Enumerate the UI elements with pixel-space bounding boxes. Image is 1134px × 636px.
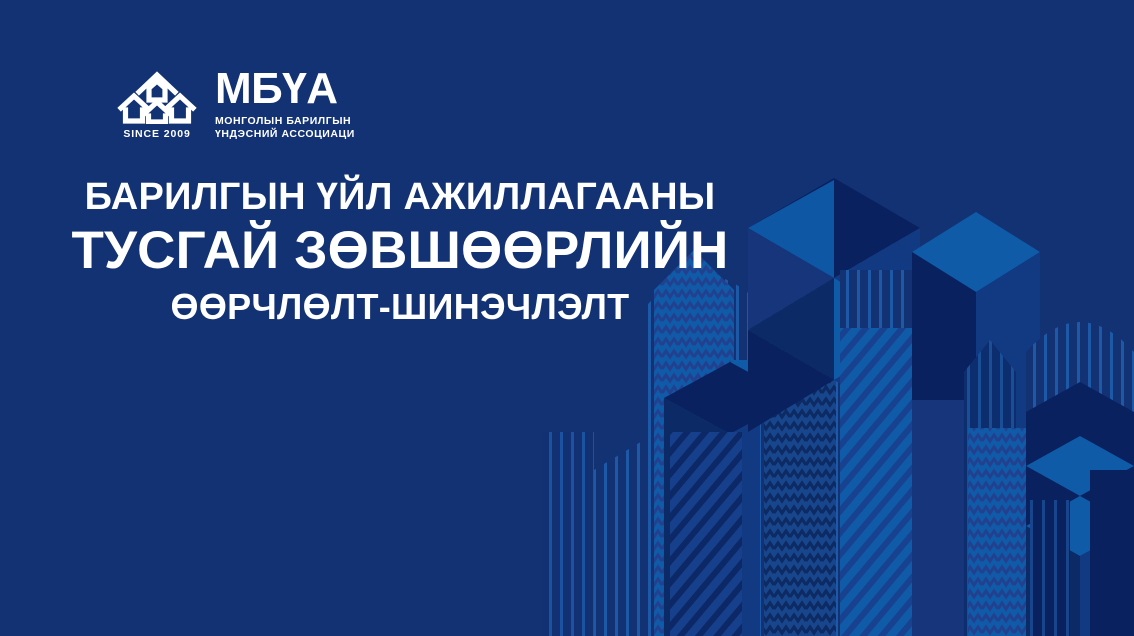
skyline-arch-left	[646, 275, 762, 636]
skyline-arch-far-right	[1026, 322, 1134, 636]
skyline-lines-far-right-bottom	[1030, 500, 1070, 636]
logo-acronym: МБҮА	[215, 68, 355, 110]
organization-logo: SINCE 2009 МБҮА МОНГОЛЫН БАРИЛГЫН ҮНДЭСН…	[113, 66, 355, 142]
logo-subtitle-line-2: ҮНДЭСНИЙ АССОЦИАЦИ	[215, 128, 355, 141]
since-badge: SINCE 2009	[113, 128, 201, 140]
skyline-cube-left	[664, 362, 796, 636]
houses-roof-logo-icon	[113, 66, 201, 124]
skyline-lines-above-diag	[840, 270, 920, 328]
skyline-cube-far-right	[1026, 382, 1134, 636]
logo-subtitle-line-1: МОНГОЛЫН БАРИЛГЫН	[215, 115, 355, 128]
skyline-zigzag-tower-right	[968, 428, 1030, 636]
skyline-slab-right-edge	[1090, 470, 1134, 636]
logo-mark-column: SINCE 2009	[113, 66, 201, 140]
headline-line-2: ТУСГАЙ ЗӨВШӨӨРЛИЙН	[0, 221, 800, 281]
logo-subtitle: МОНГОЛЫН БАРИЛГЫН ҮНДЭСНИЙ АССОЦИАЦИ	[215, 115, 355, 142]
logo-wordmark: МБҮА МОНГОЛЫН БАРИЛГЫН ҮНДЭСНИЙ АССОЦИАЦ…	[215, 66, 355, 142]
slide-headline: БАРИЛГЫН ҮЙЛ АЖИЛЛАГААНЫ ТУСГАЙ ЗӨВШӨӨРЛ…	[0, 176, 800, 327]
skyline-linefan-left	[594, 440, 694, 636]
headline-line-3: ӨӨРЧЛӨЛТ-ШИНЭЧЛЭЛТ	[0, 286, 800, 327]
skyline-block-left-blue	[734, 360, 796, 636]
headline-line-1: БАРИЛГЫН ҮЙЛ АЖИЛЛАГААНЫ	[0, 176, 800, 219]
skyline-diag-tower-left	[670, 432, 742, 636]
skyline-tower-far-left	[542, 432, 594, 636]
skyline-diag-tower-center	[840, 318, 920, 636]
skyline-zigzag-tower-center	[764, 352, 836, 636]
skyline-column-navy	[912, 400, 964, 636]
skyline-linefan-right-a	[964, 340, 1016, 636]
skyline-cube-right-mid	[912, 212, 1040, 636]
presentation-slide: SINCE 2009 МБҮА МОНГОЛЫН БАРИЛГЫН ҮНДЭСН…	[0, 0, 1134, 636]
